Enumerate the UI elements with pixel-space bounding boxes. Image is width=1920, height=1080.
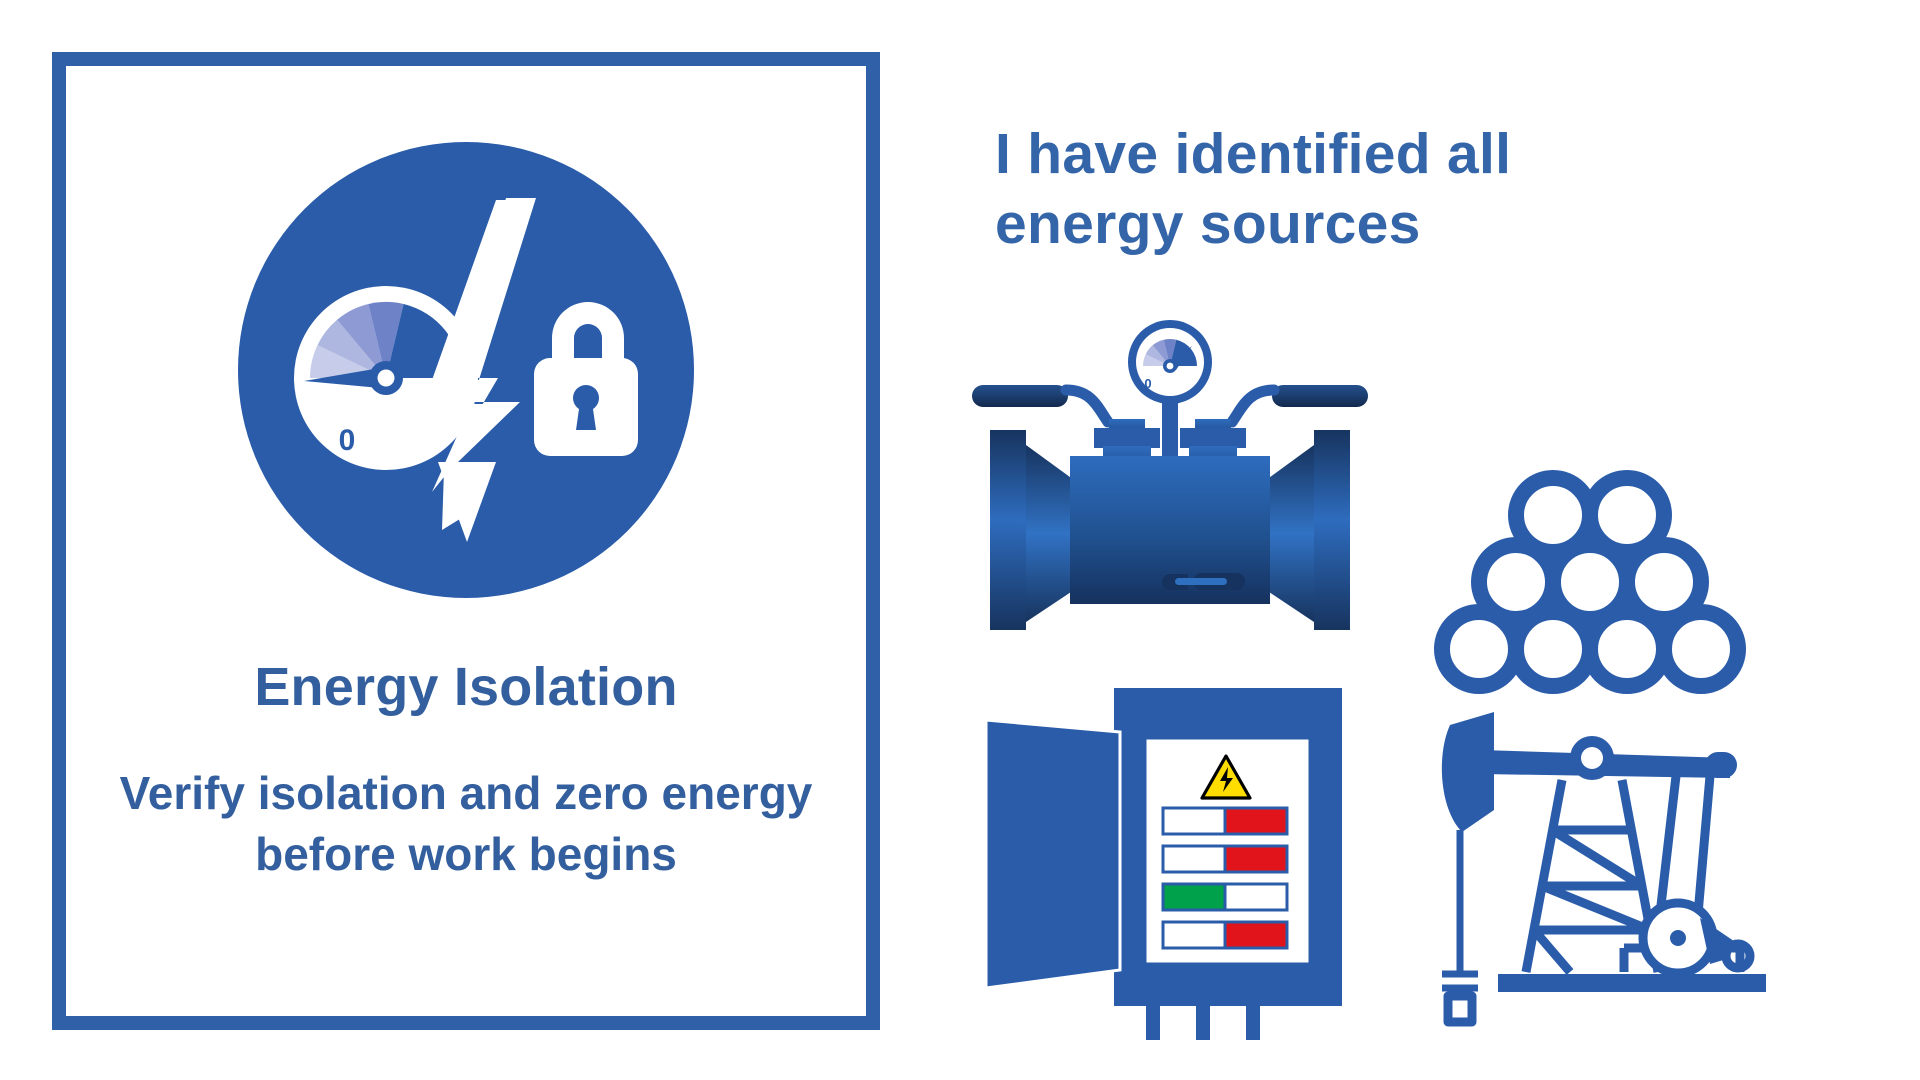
page-title: Energy Isolation	[254, 658, 677, 717]
infographic-canvas: 0 Energy Isolation	[0, 0, 1920, 1080]
pumpjack-icon	[1442, 712, 1766, 1022]
panel-headline: I have identified all energy sources	[995, 120, 1615, 259]
valve-gauge-zero-label: 0	[1144, 376, 1151, 391]
valve-flange-left	[990, 430, 1026, 630]
valve-illustration: 0	[970, 290, 1370, 630]
valve-cone-left	[1026, 445, 1074, 622]
valve-handle-right-icon	[1232, 385, 1368, 422]
panel-door	[986, 720, 1120, 988]
breaker-row[interactable]	[1163, 808, 1287, 834]
energy-source-icon-grid: 0	[960, 290, 1870, 1070]
gauge-zero-label: 0	[339, 424, 356, 457]
pipe-stack-icon	[1442, 478, 1738, 686]
breaker-row[interactable]	[1163, 846, 1287, 872]
energy-sources-panel: I have identified all energy sources	[960, 120, 1870, 1060]
energy-isolation-card: 0 Energy Isolation	[52, 52, 880, 1030]
card-subtitle-line-2: before work begins	[86, 824, 846, 885]
panel-legs	[1146, 1002, 1260, 1040]
breaker-row[interactable]	[1163, 884, 1287, 910]
energy-isolation-badge: 0	[206, 110, 726, 630]
valve-handle-left-icon	[972, 385, 1108, 422]
card-subtitle-line-1: Verify isolation and zero energy	[86, 763, 846, 824]
panel-headline-line-1: I have identified all	[995, 120, 1615, 190]
pipe-stack-illustration	[1420, 470, 1760, 700]
valve-flange-right	[1314, 430, 1350, 630]
card-content: 0 Energy Isolation	[66, 66, 866, 1016]
card-subtitle: Verify isolation and zero energy before …	[86, 763, 846, 884]
valve-lock-detail-icon	[1162, 573, 1245, 590]
panel-headline-line-2: energy sources	[995, 190, 1615, 260]
breaker-row[interactable]	[1163, 922, 1287, 948]
valve-cone-right	[1266, 445, 1314, 622]
electrical-panel-illustration	[980, 670, 1360, 1040]
pumpjack-illustration	[1410, 690, 1780, 1030]
